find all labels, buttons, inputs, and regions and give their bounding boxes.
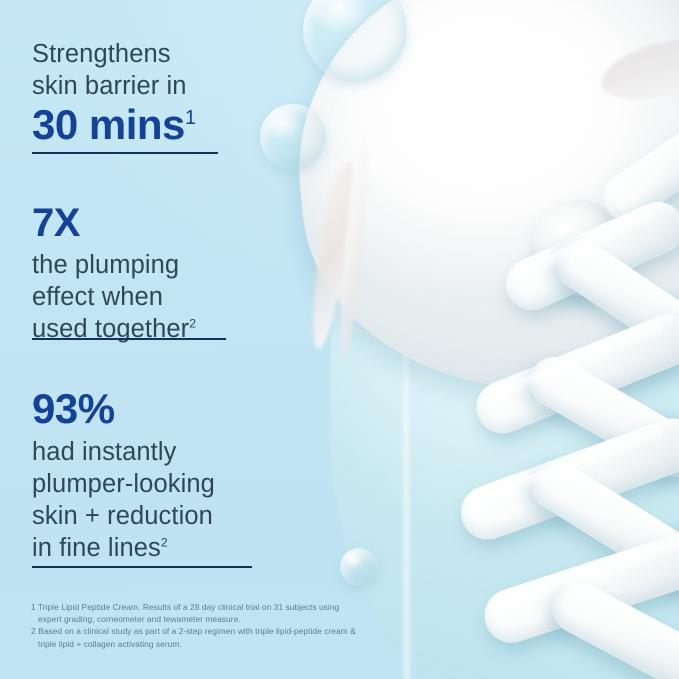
claim-lede-line: the plumping xyxy=(32,251,179,279)
claim-lede-superscript: 2 xyxy=(161,536,168,550)
claim-lede-line: skin barrier in xyxy=(32,72,187,100)
claim-lede-superscript: 2 xyxy=(189,317,196,331)
claim-stat: 7X xyxy=(32,203,196,243)
footnote-2: 2 Based on a clinical study as part of a… xyxy=(31,625,361,649)
claim-block-plumper-skin: 93% had instantly plumper-looking skin +… xyxy=(32,388,215,564)
claim-stat: 30 mins1 xyxy=(32,104,196,146)
claim-lede-line: had instantly xyxy=(32,438,176,466)
claims-content: Strengthens skin barrier in 30 mins1 7X … xyxy=(0,0,679,679)
footnotes: 1 Triple Lipid Peptide Cream. Results of… xyxy=(31,601,361,650)
claim-lede: had instantly plumper-looking skin + red… xyxy=(32,436,215,564)
claim-lede-line: Strengthens xyxy=(32,40,171,68)
claim-lede-line: skin + reduction xyxy=(32,502,213,530)
product-claims-infographic: Strengthens skin barrier in 30 mins1 7X … xyxy=(0,0,679,679)
claim-lede-line: effect when xyxy=(32,283,163,311)
claim-stat-value: 30 mins xyxy=(32,101,185,148)
claim-divider xyxy=(32,338,226,340)
claim-lede-line: plumper-looking xyxy=(32,470,215,498)
claim-lede: Strengthens skin barrier in xyxy=(32,38,196,102)
claim-block-plumping: 7X the plumping effect when used togethe… xyxy=(32,203,196,345)
footnote-1: 1 Triple Lipid Peptide Cream. Results of… xyxy=(31,601,361,625)
claim-block-strengthens: Strengthens skin barrier in 30 mins1 xyxy=(32,38,196,146)
claim-stat-superscript: 1 xyxy=(185,107,196,129)
claim-lede-line: in fine lines xyxy=(32,534,161,562)
claim-lede: the plumping effect when used together2 xyxy=(32,249,196,345)
claim-stat: 93% xyxy=(32,388,215,430)
claim-divider xyxy=(32,566,252,568)
claim-divider xyxy=(32,152,218,154)
